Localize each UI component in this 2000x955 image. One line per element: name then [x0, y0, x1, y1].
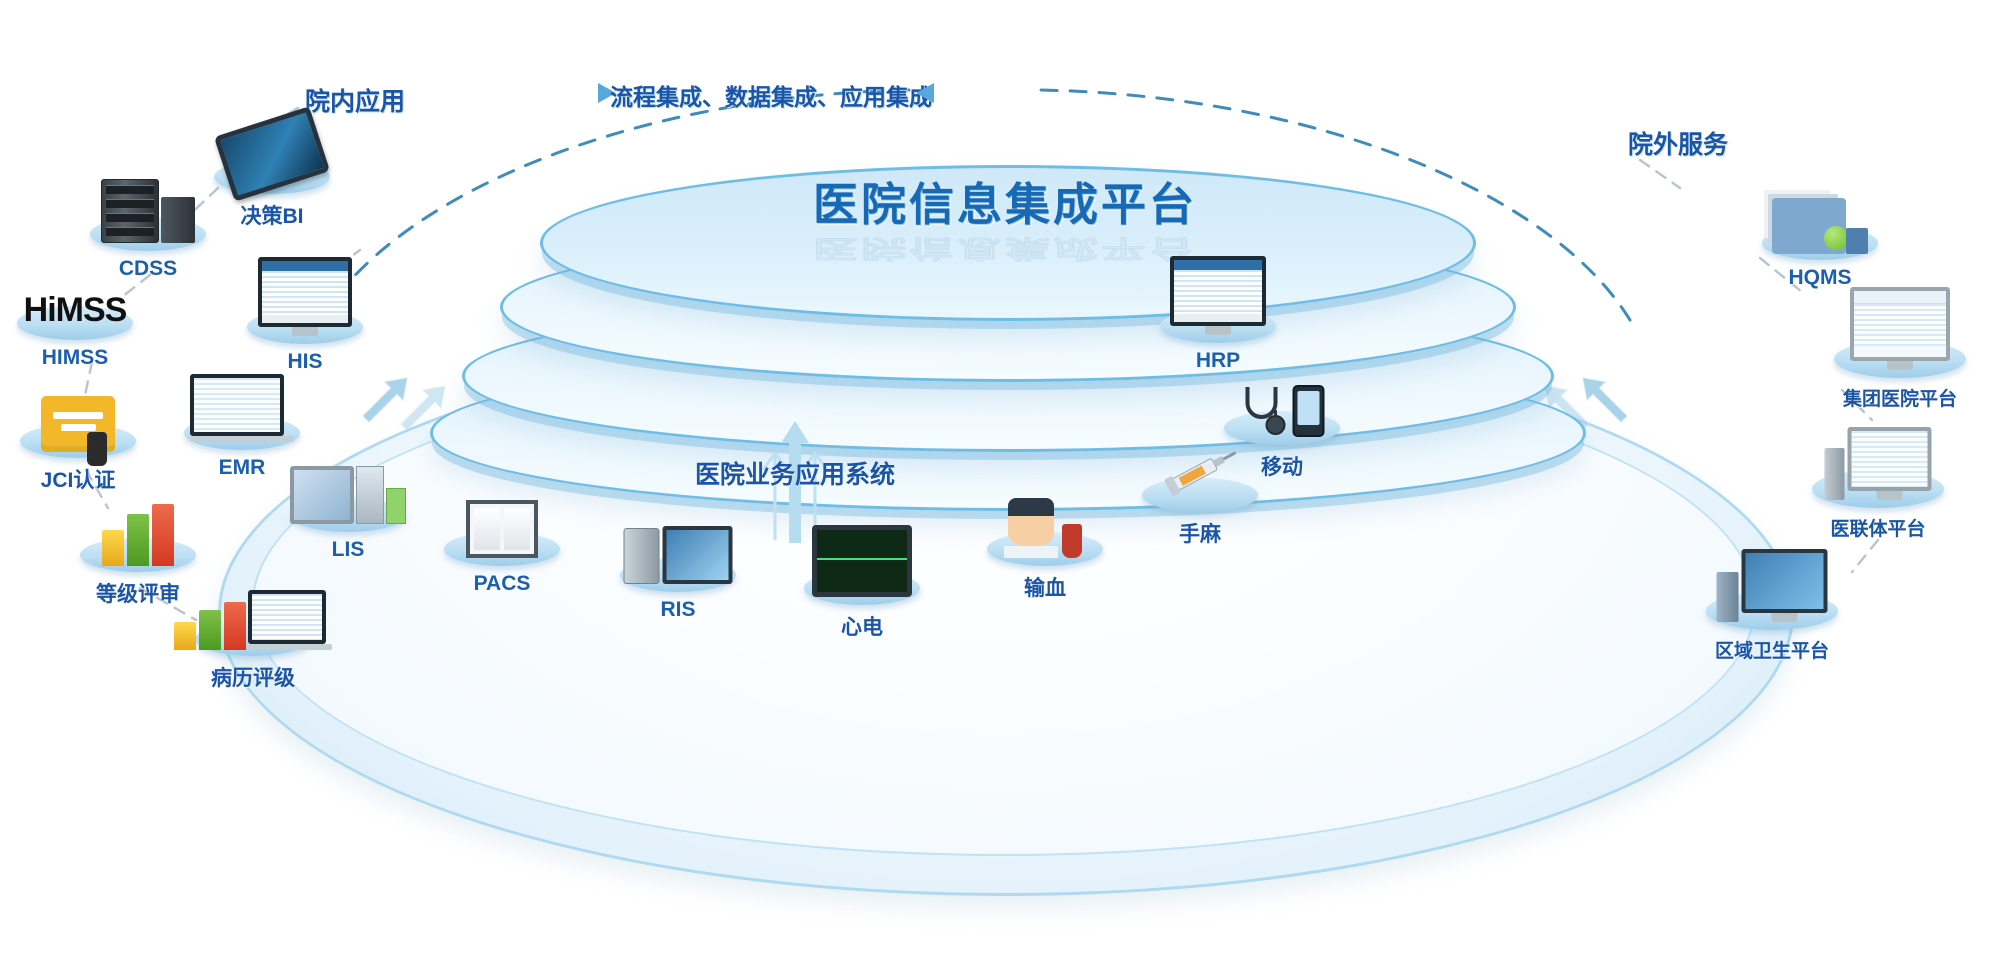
pedestal	[1706, 592, 1838, 630]
lab-analyzer-icon	[290, 466, 406, 524]
pedestal	[90, 217, 206, 251]
node-jci-certification[interactable]: JCI认证	[0, 372, 168, 494]
pc-tower-icon	[624, 526, 733, 584]
desktop-his-icon	[258, 257, 352, 336]
himss-logo-icon: HiMSS	[24, 291, 127, 330]
diagram-canvas: 流程集成、数据集成、应用集成 院内应用 院外服务	[0, 0, 2000, 955]
node-label: HRP	[1128, 349, 1308, 373]
node-ris[interactable]: RIS	[588, 500, 768, 622]
server-rack-icon	[101, 179, 195, 243]
node-himss[interactable]: HiMSS HIMSS	[0, 262, 165, 370]
pedestal	[987, 532, 1103, 566]
section-heading-external: 院外服务	[1628, 125, 1728, 161]
stethoscope-glyph	[1240, 381, 1288, 437]
node-label: PACS	[412, 572, 592, 596]
blue-monitor-icon	[1717, 549, 1828, 622]
platform-title-reflection: 医院信息集成平台	[540, 233, 1470, 269]
node-hqms[interactable]: HQMS	[1730, 170, 1910, 290]
pedestal	[1224, 411, 1340, 445]
pedestal	[1812, 470, 1944, 508]
desktop-monitor-icon	[1850, 287, 1950, 370]
himss-logo-text: HiMSS	[24, 291, 127, 330]
laptop-emr-icon	[190, 374, 294, 442]
mobile-stethoscope-icon	[1240, 381, 1325, 437]
certificate-stamp-icon	[41, 396, 115, 452]
node-group-hospital-platform[interactable]: 集团医院平台	[1800, 278, 2000, 411]
node-label: 心电	[772, 611, 952, 641]
hrp-monitor-icon	[1170, 256, 1266, 335]
pedestal: HiMSS	[17, 306, 133, 340]
workstation-icon	[1825, 427, 1932, 500]
pedestal	[1160, 309, 1276, 343]
ecg-monitor-icon	[812, 525, 912, 597]
pedestal	[20, 424, 136, 458]
platform-title: 医院信息集成平台	[540, 168, 1470, 233]
pedestal	[1834, 340, 1966, 378]
node-label: HIMSS	[0, 346, 165, 370]
node-ecg[interactable]: 心电	[772, 505, 952, 641]
node-label: RIS	[588, 598, 768, 622]
documents-folder-icon	[1772, 198, 1868, 254]
node-lis[interactable]: LIS	[258, 440, 438, 562]
node-blood-transfusion[interactable]: 输血	[955, 470, 1135, 602]
node-label: 集团医院平台	[1800, 384, 2000, 411]
pedestal	[1142, 478, 1258, 512]
node-label: 移动	[1192, 451, 1372, 481]
bar-chart-icon	[102, 504, 174, 566]
pedestal	[804, 571, 920, 605]
node-record-rating[interactable]: 病历评级	[158, 560, 348, 692]
node-label: 病历评级	[158, 662, 348, 692]
node-regional-health-platform[interactable]: 区域卫生平台	[1672, 530, 1872, 663]
node-label: 输血	[955, 572, 1135, 602]
pedestal	[195, 622, 311, 656]
node-medical-alliance-platform[interactable]: 医联体平台	[1778, 408, 1978, 541]
integration-banner-text: 流程集成、数据集成、应用集成	[610, 78, 910, 112]
pedestal	[1762, 226, 1878, 260]
node-his[interactable]: HIS	[215, 248, 395, 374]
chart-laptop-icon	[174, 590, 332, 650]
node-pacs[interactable]: PACS	[412, 472, 592, 596]
blood-transfusion-icon	[1008, 498, 1082, 558]
node-label: 手麻	[1110, 518, 1290, 548]
xray-film-icon	[466, 500, 538, 558]
node-label: LIS	[258, 538, 438, 562]
pedestal	[620, 558, 736, 592]
pedestal	[247, 310, 363, 344]
banner-arrow-right-icon	[916, 83, 934, 103]
node-label: 区域卫生平台	[1672, 636, 1872, 663]
node-hrp[interactable]: HRP	[1128, 245, 1308, 373]
pedestal	[290, 498, 406, 532]
pedestal	[444, 532, 560, 566]
business-layer-label: 医院业务应用系统	[600, 455, 990, 491]
